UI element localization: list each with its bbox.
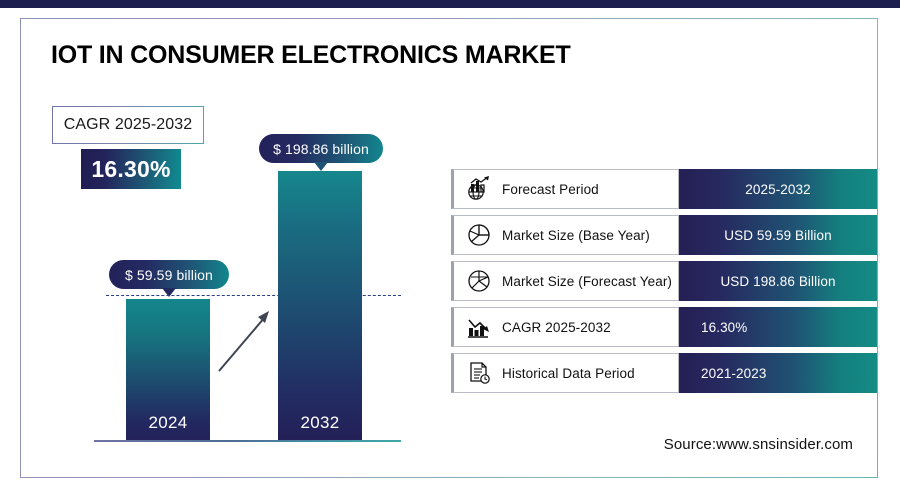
document-clock-icon <box>462 358 496 388</box>
bar-callout-2024: $ 59.59 billion <box>109 260 229 289</box>
bar-chart-trend-icon <box>462 312 496 342</box>
info-table: Forecast Period 2025-2032 <box>451 169 877 399</box>
table-row: Historical Data Period 2021-2023 <box>451 353 877 393</box>
chart-axis-line <box>94 440 401 442</box>
table-row-label: Market Size (Forecast Year) <box>502 274 672 289</box>
table-row-label: Historical Data Period <box>502 366 635 381</box>
table-row: Forecast Period 2025-2032 <box>451 169 877 209</box>
bar-2024-year-label: 2024 <box>126 413 210 433</box>
bar-chart: $ 59.59 billion $ 198.86 billion 2024 20… <box>21 19 441 459</box>
table-row-value: 2025-2032 <box>679 169 877 209</box>
table-row-value: USD 198.86 Billion <box>679 261 877 301</box>
table-row-label: CAGR 2025-2032 <box>502 320 611 335</box>
table-row-label-cell: CAGR 2025-2032 <box>451 307 679 347</box>
table-row: Market Size (Base Year) USD 59.59 Billio… <box>451 215 877 255</box>
bar-2024: 2024 <box>126 299 210 441</box>
growth-arrow-icon <box>211 301 281 377</box>
bar-2032-year-label: 2032 <box>278 413 362 433</box>
pie-chart-icon <box>462 220 496 250</box>
bar-callout-2024-text: $ 59.59 billion <box>125 267 213 283</box>
pie-chart-segments-icon <box>462 266 496 296</box>
table-row-label-cell: Market Size (Forecast Year) <box>451 261 679 301</box>
table-row: Market Size (Forecast Year) USD 198.86 B… <box>451 261 877 301</box>
table-row: CAGR 2025-2032 16.30% <box>451 307 877 347</box>
bar-callout-2032-text: $ 198.86 billion <box>273 141 369 157</box>
globe-bar-chart-icon <box>462 174 496 204</box>
table-row-label-cell: Market Size (Base Year) <box>451 215 679 255</box>
frame-inner: IOT IN CONSUMER ELECTRONICS MARKET CAGR … <box>21 19 877 477</box>
table-row-label-cell: Historical Data Period <box>451 353 679 393</box>
top-navy-strip <box>0 0 900 8</box>
table-row-label: Forecast Period <box>502 182 599 197</box>
outer-frame: IOT IN CONSUMER ELECTRONICS MARKET CAGR … <box>20 18 878 478</box>
infographic-root: IOT IN CONSUMER ELECTRONICS MARKET CAGR … <box>0 0 900 500</box>
table-row-value: 16.30% <box>679 307 877 347</box>
bar-2032: 2032 <box>278 171 362 441</box>
source-text: Source:www.snsinsider.com <box>664 436 853 453</box>
table-row-value: USD 59.59 Billion <box>679 215 877 255</box>
bar-callout-2032: $ 198.86 billion <box>259 134 383 163</box>
table-row-label: Market Size (Base Year) <box>502 228 650 243</box>
table-row-value: 2021-2023 <box>679 353 877 393</box>
table-row-label-cell: Forecast Period <box>451 169 679 209</box>
